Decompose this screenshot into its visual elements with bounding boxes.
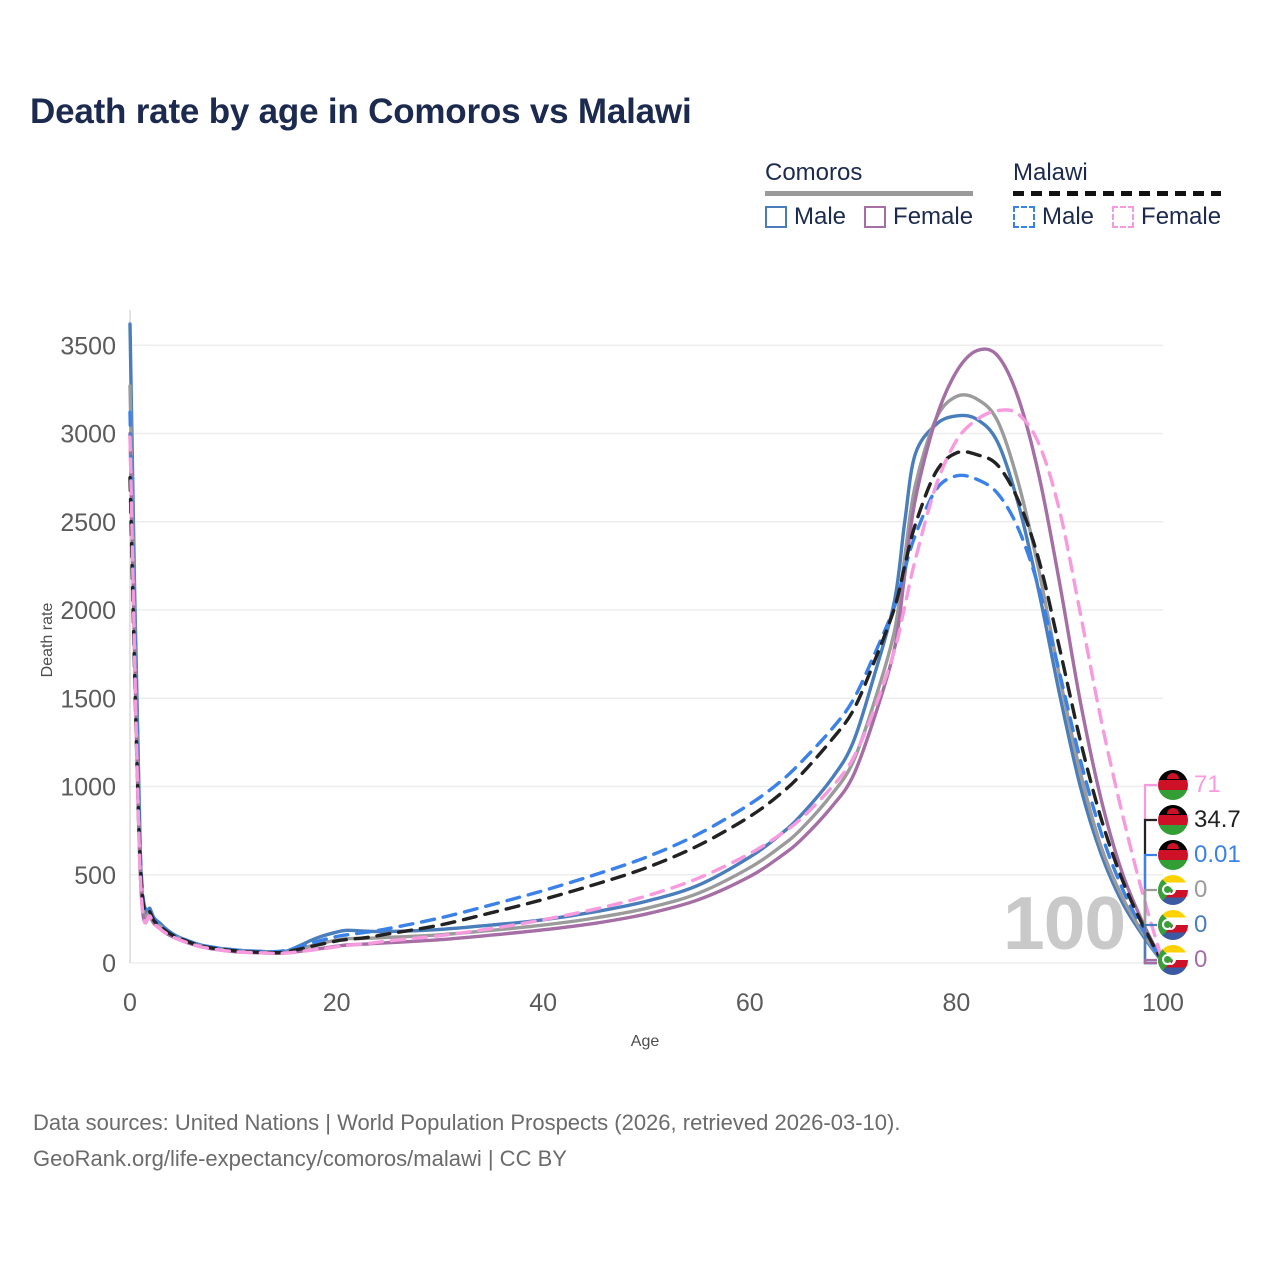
series-lines	[130, 324, 1163, 963]
plot-area: 0500100015002000250030003500 02040608010…	[0, 0, 1280, 1080]
svg-text:60: 60	[736, 989, 764, 1017]
x-axis-title: Age	[631, 1033, 660, 1050]
annotation-value: 0	[1194, 911, 1207, 939]
series-line	[130, 412, 1163, 963]
y-axis-ticks: 0500100015002000250030003500	[60, 332, 116, 978]
annotation-row: 71	[1158, 770, 1221, 800]
series-line	[130, 349, 1163, 963]
chart-container: Death rate by age in Comoros vs Malawi C…	[0, 0, 1280, 1280]
annotation-row: 0	[1158, 875, 1207, 905]
malawi-flag-icon	[1158, 770, 1188, 800]
y-axis-title: Death rate	[39, 603, 56, 678]
x-axis-ticks: 020406080100	[123, 989, 1184, 1017]
svg-text:1500: 1500	[60, 685, 116, 713]
svg-text:40: 40	[529, 989, 557, 1017]
malawi-flag-icon	[1158, 840, 1188, 870]
svg-text:3500: 3500	[60, 332, 116, 360]
annotation-row: 34.7	[1158, 805, 1241, 835]
annotation-connector	[1145, 960, 1157, 963]
annotation-row: 0.01	[1158, 840, 1241, 870]
annotation-value: 0	[1194, 946, 1207, 974]
annotation-value: 0.01	[1194, 841, 1241, 869]
gridlines	[130, 345, 1163, 963]
svg-text:80: 80	[942, 989, 970, 1017]
annotation-row: 0	[1158, 945, 1207, 975]
footer-attribution: GeoRank.org/life-expectancy/comoros/mala…	[33, 1141, 1233, 1177]
svg-text:0: 0	[102, 950, 116, 978]
annotation-value: 71	[1194, 771, 1221, 799]
svg-text:3000: 3000	[60, 421, 116, 449]
series-line	[130, 410, 1163, 963]
annotation-value: 34.7	[1194, 806, 1241, 834]
svg-text:100: 100	[1142, 989, 1184, 1017]
end-value-annotations: 71 34.7 0.01 0 0 0	[1158, 770, 1280, 975]
annotation-value: 0	[1194, 876, 1207, 904]
svg-text:500: 500	[74, 862, 116, 890]
svg-text:2000: 2000	[60, 597, 116, 625]
comoros-flag-icon	[1158, 945, 1188, 975]
annotation-row: 0	[1158, 910, 1207, 940]
comoros-flag-icon	[1158, 875, 1188, 905]
malawi-flag-icon	[1158, 805, 1188, 835]
footer-data-sources: Data sources: United Nations | World Pop…	[33, 1105, 1233, 1141]
svg-text:20: 20	[323, 989, 351, 1017]
svg-text:1000: 1000	[60, 774, 116, 802]
svg-text:2500: 2500	[60, 509, 116, 537]
footer: Data sources: United Nations | World Pop…	[33, 1105, 1233, 1177]
series-line	[130, 452, 1163, 963]
svg-text:0: 0	[123, 989, 137, 1017]
comoros-flag-icon	[1158, 910, 1188, 940]
